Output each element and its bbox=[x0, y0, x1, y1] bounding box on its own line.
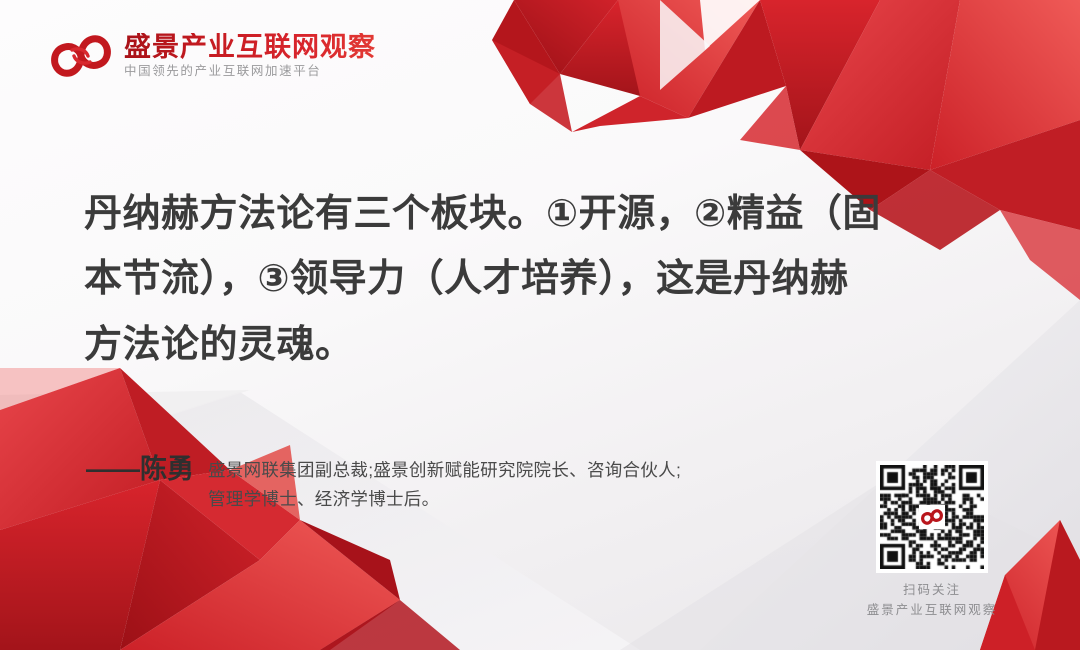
author-role-line: 管理学博士、经济学博士后。 bbox=[208, 487, 681, 512]
quote-card: 盛景产业互联网观察 中国领先的产业互联网加速平台 丹纳赫方法论有三个板块。①开源… bbox=[0, 0, 1080, 650]
interlocking-cloud-knot-icon bbox=[921, 507, 943, 527]
qr-center-logo bbox=[919, 505, 945, 529]
qr-code-icon[interactable] bbox=[876, 461, 988, 573]
author-name: ——陈勇 bbox=[86, 452, 194, 487]
quote-line: 本节流），③领导力（人才培养），这是丹纳赫 bbox=[84, 247, 1014, 312]
qr-caption-secondary: 盛景产业互联网观察 bbox=[867, 601, 998, 620]
author-role-line: 盛景网联集团副总裁;盛景创新赋能研究院院长、咨询合伙人; bbox=[208, 458, 681, 483]
qr-caption: 扫码关注 盛景产业互联网观察 bbox=[867, 581, 998, 620]
brand-logo[interactable]: 盛景产业互联网观察 中国领先的产业互联网加速平台 bbox=[50, 28, 376, 84]
interlocking-cloud-knot-icon bbox=[50, 28, 112, 84]
brand-title: 盛景产业互联网观察 bbox=[124, 33, 376, 62]
qr-follow-block[interactable]: 扫码关注 盛景产业互联网观察 bbox=[862, 461, 1002, 620]
qr-caption-primary: 扫码关注 bbox=[867, 581, 998, 600]
brand-tagline: 中国领先的产业互联网加速平台 bbox=[124, 65, 376, 79]
author-roles: 盛景网联集团副总裁;盛景创新赋能研究院院长、咨询合伙人; 管理学博士、经济学博士… bbox=[208, 452, 681, 513]
quote-body: 丹纳赫方法论有三个板块。①开源，②精益（固 本节流），③领导力（人才培养），这是… bbox=[84, 182, 1014, 378]
quote-line: 丹纳赫方法论有三个板块。①开源，②精益（固 bbox=[84, 182, 1014, 247]
quote-attribution: ——陈勇 盛景网联集团副总裁;盛景创新赋能研究院院长、咨询合伙人; 管理学博士、… bbox=[86, 452, 681, 513]
quote-line: 方法论的灵魂。 bbox=[84, 313, 1014, 378]
